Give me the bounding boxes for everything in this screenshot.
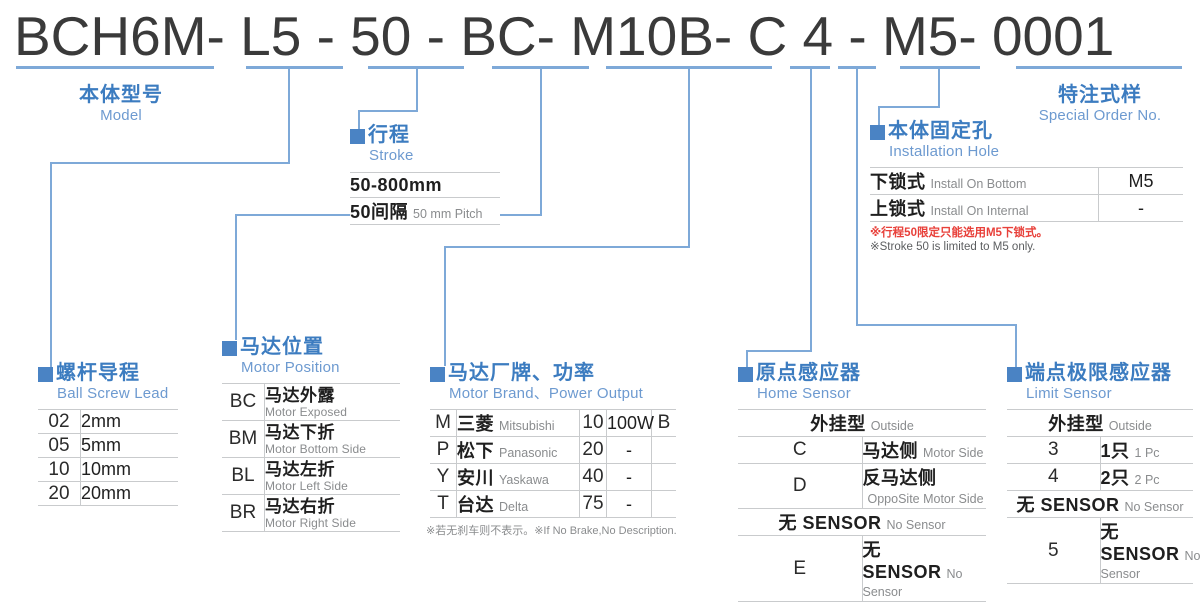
- leader-ballscrew-h1: [50, 162, 290, 164]
- home-sensor-group-en: No Sensor: [886, 518, 945, 532]
- lead-code: 02: [48, 411, 69, 432]
- limit-sensor-cn: 无 SENSOR: [1101, 522, 1180, 564]
- code-underline-lead: [246, 66, 343, 69]
- table-row[interactable]: 20 20mm: [38, 482, 178, 506]
- limit-sensor-title-en: Limit Sensor: [1026, 385, 1193, 403]
- brand-code: M: [435, 412, 451, 433]
- motor-position-cn: 马达右折: [265, 497, 400, 516]
- home-sensor-en: OppoSite Motor Side: [868, 492, 984, 506]
- limit-sensor-group-cn: 无 SENSOR: [1016, 495, 1119, 515]
- home-sensor-group-cn: 外挂型: [810, 414, 866, 434]
- brand-en: Yaskawa: [499, 473, 549, 487]
- special-order-title-cn: 特注式样: [1010, 84, 1190, 106]
- limit-sensor-header: 端点极限感应器: [1007, 362, 1193, 384]
- table-row[interactable]: BL 马达左折 Motor Left Side: [222, 458, 400, 495]
- product-code-title: BCH6M- L5 - 50 - BC- M10B- C 4 - M5- 000…: [14, 4, 1114, 68]
- home-sensor-code: D: [793, 475, 807, 496]
- motor-position-en: Motor Left Side: [265, 479, 400, 493]
- motor-position-title-en: Motor Position: [241, 359, 400, 377]
- table-row[interactable]: D 反马达侧OppoSite Motor Side: [738, 464, 986, 509]
- motor-position-en: Motor Right Side: [265, 516, 400, 530]
- motor-position-cn: 马达左折: [265, 460, 400, 479]
- table-row[interactable]: 02 2mm: [38, 410, 178, 434]
- home-sensor-group-en: Outside: [871, 419, 914, 433]
- table-row[interactable]: P 松下Panasonic 20 -: [430, 437, 676, 464]
- brand-cn: 三菱: [457, 414, 494, 434]
- table-row[interactable]: 下锁式Install On Bottom M5: [870, 168, 1183, 195]
- stroke-range: 50-800mm: [350, 175, 442, 195]
- install-internal-cn: 上锁式: [870, 199, 926, 219]
- table-row[interactable]: BC 马达外露 Motor Exposed: [222, 384, 400, 421]
- limit-sensor-code: 5: [1048, 540, 1059, 561]
- table-row[interactable]: M 三菱Mitsubishi 10 100W B: [430, 410, 676, 437]
- leader-limitsensor-h1: [856, 324, 1016, 326]
- bullet-square-icon: [738, 367, 753, 382]
- ball-screw-lead-title-cn: 螺杆导程: [56, 362, 140, 384]
- installation-hole-note: ※行程50限定只能选用M5下锁式。 ※Stroke 50 is limited …: [870, 226, 1048, 254]
- brand-code: T: [437, 493, 449, 514]
- leader-installhole-v1: [938, 68, 940, 108]
- home-sensor-cn: 马达侧: [863, 441, 919, 461]
- limit-sensor-code: 4: [1048, 466, 1059, 487]
- bullet-square-icon: [350, 129, 365, 144]
- motor-position-en: Motor Exposed: [265, 405, 400, 419]
- power-code: 40: [582, 466, 603, 487]
- table-row[interactable]: 外挂型Outside: [1007, 410, 1193, 437]
- code-underline-model: [16, 66, 214, 69]
- leader-installhole-h1: [878, 106, 940, 108]
- motor-brand-note: ※若无刹车则不表示。※If No Brake,No Description.: [426, 522, 677, 538]
- motor-brand-title-en: Motor Brand、Power Output: [449, 385, 676, 403]
- lead-value: 2mm: [81, 411, 121, 431]
- installation-hole-header: 本体固定孔: [870, 120, 1183, 142]
- leader-homesensor-v1: [810, 68, 812, 352]
- install-note-cn: ※行程50限定只能选用M5下锁式。: [870, 226, 1048, 240]
- home-sensor-cn: 无 SENSOR: [863, 540, 942, 582]
- table-row[interactable]: Y 安川Yaskawa 40 -: [430, 464, 676, 491]
- limit-sensor-en: 1 Pc: [1135, 446, 1160, 460]
- home-sensor-code: E: [793, 558, 806, 579]
- section-motor-brand: 马达厂牌、功率 Motor Brand、Power Output M 三菱Mit…: [430, 362, 676, 518]
- section-motor-position: 马达位置 Motor Position BC 马达外露 Motor Expose…: [222, 336, 400, 532]
- limit-sensor-code: 3: [1048, 439, 1059, 460]
- brand-cn: 安川: [457, 468, 494, 488]
- motor-position-cn: 马达下折: [265, 423, 400, 442]
- stroke-title-cn: 行程: [368, 124, 410, 146]
- motor-position-en: Motor Bottom Side: [265, 442, 400, 456]
- motor-position-cn: 马达外露: [265, 386, 400, 405]
- motor-brand-title-cn: 马达厂牌、功率: [448, 362, 595, 384]
- power-code: 20: [582, 439, 603, 460]
- leader-motorbrand-h1: [444, 246, 690, 248]
- lead-value: 5mm: [81, 435, 121, 455]
- section-special-order: 特注式样 Special Order No.: [1010, 84, 1190, 125]
- motor-position-code: BR: [230, 502, 256, 523]
- leader-motorpos-v1: [540, 68, 542, 216]
- table-row[interactable]: 05 5mm: [38, 434, 178, 458]
- section-home-sensor: 原点感应器 Home Sensor 外挂型Outside C 马达侧Motor …: [738, 362, 986, 602]
- bullet-square-icon: [1007, 367, 1022, 382]
- section-installation-hole: 本体固定孔 Installation Hole 下锁式Install On Bo…: [870, 120, 1183, 222]
- bullet-square-icon: [38, 367, 53, 382]
- power-code: 10: [582, 412, 603, 433]
- home-sensor-title-cn: 原点感应器: [756, 362, 861, 384]
- table-row[interactable]: 无 SENSORNo Sensor: [738, 509, 986, 536]
- limit-sensor-cn: 2只: [1101, 468, 1130, 488]
- stroke-header: 行程: [350, 124, 500, 146]
- limit-sensor-group-cn: 外挂型: [1048, 414, 1104, 434]
- brand-en: Panasonic: [499, 446, 557, 460]
- brand-en: Delta: [499, 500, 528, 514]
- motor-position-code: BM: [229, 428, 258, 449]
- leader-motorpos-v2: [235, 214, 237, 340]
- home-sensor-cn: 反马达侧: [863, 468, 937, 488]
- limit-sensor-title-cn: 端点极限感应器: [1025, 362, 1172, 384]
- ball-screw-lead-table: 02 2mm 05 5mm 10 10mm 20 20mm: [38, 409, 178, 506]
- install-internal-en: Install On Internal: [931, 204, 1029, 218]
- power-code: 75: [582, 493, 603, 514]
- ball-screw-lead-header: 螺杆导程: [38, 362, 178, 384]
- leader-stroke-h1: [358, 110, 418, 112]
- table-row[interactable]: 50间隔50 mm Pitch: [350, 198, 500, 225]
- install-bottom-en: Install On Bottom: [931, 177, 1027, 191]
- model-title-cn: 本体型号: [46, 84, 196, 106]
- power-value: 100W: [607, 413, 654, 433]
- motor-brand-header: 马达厂牌、功率: [430, 362, 676, 384]
- table-row[interactable]: 5 无 SENSORNo Sensor: [1007, 518, 1193, 584]
- table-row[interactable]: 10 10mm: [38, 458, 178, 482]
- limit-sensor-cn: 1只: [1101, 441, 1130, 461]
- code-underline-special-order: [1016, 66, 1182, 69]
- home-sensor-title-en: Home Sensor: [757, 385, 986, 403]
- lead-value: 10mm: [81, 459, 131, 479]
- motor-position-code: BL: [231, 465, 254, 486]
- home-sensor-group-cn: 无 SENSOR: [778, 513, 881, 533]
- install-bottom-cn: 下锁式: [870, 172, 926, 192]
- limit-sensor-group-en: No Sensor: [1124, 500, 1183, 514]
- installation-hole-table: 下锁式Install On Bottom M5 上锁式Install On In…: [870, 167, 1183, 222]
- lead-value: 20mm: [81, 483, 131, 503]
- brand-code: Y: [437, 466, 450, 487]
- install-bottom-value: M5: [1128, 171, 1153, 191]
- installation-hole-title-cn: 本体固定孔: [888, 120, 993, 142]
- leader-homesensor-h1: [746, 350, 812, 352]
- power-value: -: [626, 494, 632, 514]
- leader-motorbrand-v2: [444, 246, 446, 366]
- section-model: 本体型号 Model: [46, 84, 196, 125]
- lead-code: 20: [48, 483, 69, 504]
- leader-stroke-v1: [416, 68, 418, 112]
- table-row[interactable]: 无 SENSORNo Sensor: [1007, 491, 1193, 518]
- leader-ballscrew-v2: [50, 162, 52, 370]
- installation-hole-title-en: Installation Hole: [889, 143, 1183, 161]
- table-row[interactable]: C 马达侧Motor Side: [738, 437, 986, 464]
- install-internal-value: -: [1138, 198, 1144, 218]
- table-row[interactable]: 外挂型Outside: [738, 410, 986, 437]
- stroke-table: 50-800mm 50间隔50 mm Pitch: [350, 172, 500, 225]
- table-row[interactable]: E 无 SENSORNo Sensor: [738, 536, 986, 602]
- brand-cn: 台达: [457, 495, 494, 515]
- table-row[interactable]: 50-800mm: [350, 173, 500, 198]
- stroke-pitch-cn: 50间隔: [350, 202, 408, 222]
- table-row[interactable]: 4 2只2 Pc: [1007, 464, 1193, 491]
- brand-en: Mitsubishi: [499, 419, 555, 433]
- limit-sensor-en: 2 Pc: [1135, 473, 1160, 487]
- bullet-square-icon: [870, 125, 885, 140]
- section-stroke: 行程 Stroke 50-800mm 50间隔50 mm Pitch: [350, 124, 500, 225]
- install-note-en: ※Stroke 50 is limited to M5 only.: [870, 240, 1048, 254]
- table-row[interactable]: 上锁式Install On Internal -: [870, 195, 1183, 222]
- leader-motorbrand-v1: [688, 68, 690, 248]
- stroke-title-en: Stroke: [369, 147, 500, 165]
- bullet-square-icon: [430, 367, 445, 382]
- ball-screw-lead-title-en: Ball Screw Lead: [57, 385, 178, 403]
- limit-sensor-table: 外挂型Outside 3 1只1 Pc 4 2只2 Pc 无 SENSORNo …: [1007, 409, 1193, 584]
- power-value: -: [626, 467, 632, 487]
- home-sensor-table: 外挂型Outside C 马达侧Motor Side D 反马达侧OppoSit…: [738, 409, 986, 602]
- brand-code: P: [437, 439, 450, 460]
- motor-position-title-cn: 马达位置: [240, 336, 324, 358]
- bullet-square-icon: [222, 341, 237, 356]
- motor-position-code: BC: [230, 391, 256, 412]
- home-sensor-header: 原点感应器: [738, 362, 986, 384]
- brand-cn: 松下: [457, 441, 494, 461]
- leader-ballscrew-v1: [288, 68, 290, 164]
- section-ball-screw-lead: 螺杆导程 Ball Screw Lead 02 2mm 05 5mm 10 10…: [38, 362, 178, 506]
- limit-sensor-group-en: Outside: [1109, 419, 1152, 433]
- leader-limitsensor-v1: [856, 68, 858, 326]
- power-value: -: [626, 440, 632, 460]
- table-row[interactable]: T 台达Delta 75 -: [430, 491, 676, 518]
- table-row[interactable]: BM 马达下折 Motor Bottom Side: [222, 421, 400, 458]
- model-title-en: Model: [46, 107, 196, 125]
- home-sensor-code: C: [793, 439, 807, 460]
- stroke-pitch-en: 50 mm Pitch: [413, 207, 482, 221]
- motor-position-header: 马达位置: [222, 336, 400, 358]
- lead-code: 10: [48, 459, 69, 480]
- home-sensor-en: Motor Side: [923, 446, 983, 460]
- motor-brand-table: M 三菱Mitsubishi 10 100W B P 松下Panasonic 2…: [430, 409, 676, 518]
- code-underline-install-hole: [900, 66, 980, 69]
- motor-position-table: BC 马达外露 Motor Exposed BM 马达下折 Motor Bott…: [222, 383, 400, 532]
- table-row[interactable]: BR 马达右折 Motor Right Side: [222, 495, 400, 532]
- section-limit-sensor: 端点极限感应器 Limit Sensor 外挂型Outside 3 1只1 Pc…: [1007, 362, 1193, 584]
- lead-code: 05: [48, 435, 69, 456]
- table-row[interactable]: 3 1只1 Pc: [1007, 437, 1193, 464]
- brake-code: B: [658, 412, 671, 433]
